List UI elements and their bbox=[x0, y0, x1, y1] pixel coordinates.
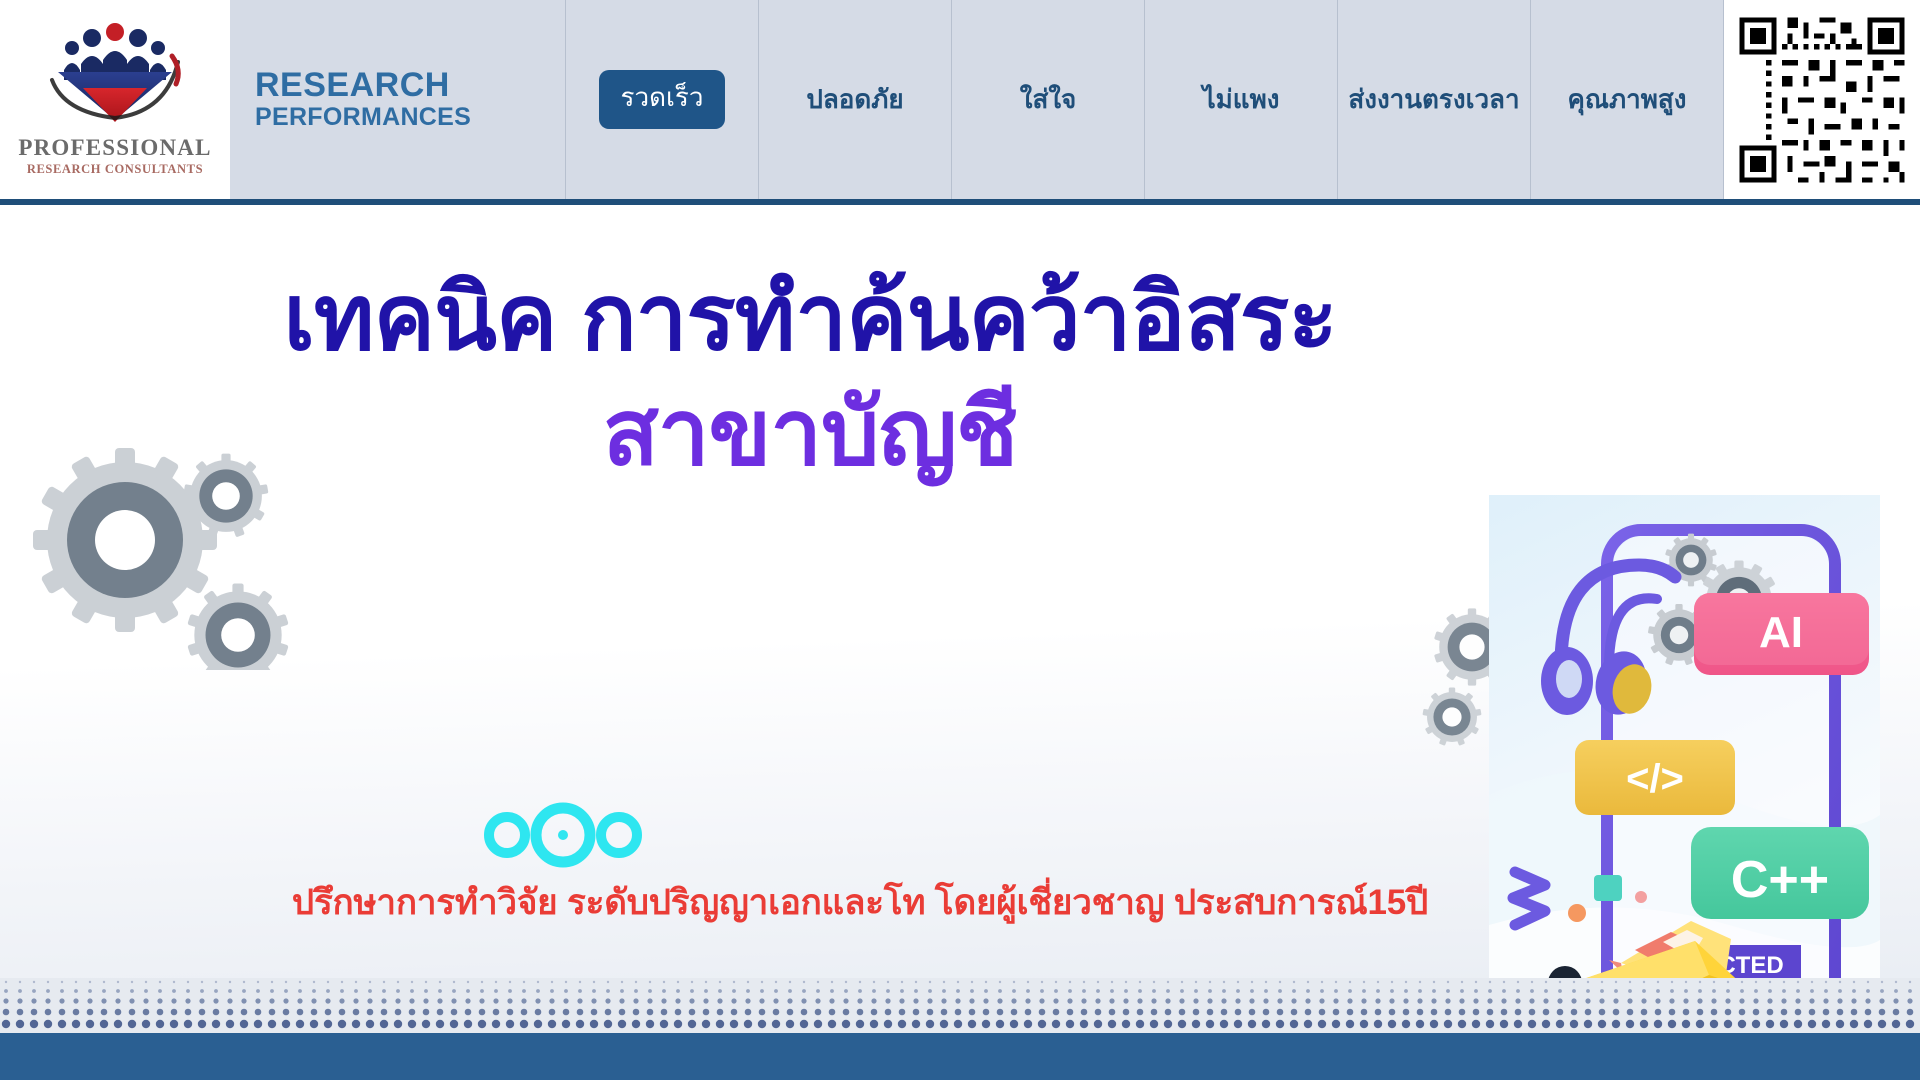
gears-decoration-icon bbox=[30, 430, 300, 670]
badge-cpp: C++ bbox=[1691, 827, 1869, 919]
badge-ai-label: AI bbox=[1759, 608, 1803, 657]
site-header: PROFESSIONAL RESEARCH CONSULTANTS RESEAR… bbox=[0, 0, 1920, 205]
illustration-svg: AI </> C++ CTED bbox=[1489, 495, 1880, 978]
nav-item-maipaeng[interactable]: ไม่แพง bbox=[1144, 0, 1337, 199]
confetti-dot bbox=[1568, 904, 1586, 922]
main-nav: รวดเร็ว ปลอดภัย ใส่ใจ ไม่แพง ส่งงานตรงเว… bbox=[565, 0, 1724, 199]
nav-label-4: ส่งงานตรงเวลา bbox=[1348, 82, 1519, 117]
brand-line-2: PERFORMANCES bbox=[255, 104, 565, 132]
prc-logo-icon bbox=[40, 22, 190, 134]
page-root: PROFESSIONAL RESEARCH CONSULTANTS RESEAR… bbox=[0, 0, 1920, 1080]
nav-label-1: ปลอดภัย bbox=[806, 82, 903, 117]
brand-title: RESEARCH PERFORMANCES bbox=[230, 0, 565, 199]
confetti-square bbox=[1594, 875, 1622, 901]
hero-section: เทคนิค การทำค้นคว้าอิสระ สาขาบัญชี ปรึกษ… bbox=[0, 205, 1920, 978]
hero-illustration: AI </> C++ CTED bbox=[1489, 495, 1880, 978]
footer-bar bbox=[0, 1033, 1920, 1080]
nav-label-3: ไม่แพง bbox=[1203, 82, 1280, 117]
badge-ai: AI bbox=[1694, 593, 1869, 675]
qr-code-block[interactable] bbox=[1724, 0, 1920, 199]
badge-code: </> bbox=[1575, 740, 1735, 815]
qr-code-icon bbox=[1734, 12, 1910, 188]
nav-item-ontime[interactable]: ส่งงานตรงเวลา bbox=[1337, 0, 1530, 199]
logo-block[interactable]: PROFESSIONAL RESEARCH CONSULTANTS bbox=[0, 0, 230, 199]
logo-wordmark: PROFESSIONAL bbox=[18, 136, 211, 159]
nav-label-2: ใส่ใจ bbox=[1020, 82, 1077, 117]
nav-item-plodpai[interactable]: ปลอดภัย bbox=[758, 0, 951, 199]
nav-label-5: คุณภาพสูง bbox=[1568, 82, 1687, 117]
cyan-nextcloud-style-icon bbox=[478, 800, 648, 870]
headline-line-1: เทคนิค การทำค้นคว้าอิสระ bbox=[0, 270, 1620, 367]
nav-label-0: รวดเร็ว bbox=[599, 70, 726, 129]
logo-subword: RESEARCH CONSULTANTS bbox=[27, 162, 203, 177]
nav-item-saijai[interactable]: ใส่ใจ bbox=[951, 0, 1144, 199]
nav-item-quality[interactable]: คุณภาพสูง bbox=[1530, 0, 1724, 199]
badge-cpp-label: C++ bbox=[1731, 851, 1829, 909]
halftone-dot-pattern bbox=[0, 978, 1920, 1033]
hero-subheadline: ปรึกษาการทำวิจัย ระดับปริญญาเอกและโท โดย… bbox=[0, 875, 1720, 930]
confetti-dot-2 bbox=[1635, 891, 1647, 903]
nav-item-ruadreo[interactable]: รวดเร็ว bbox=[565, 0, 758, 199]
badge-code-label: </> bbox=[1626, 757, 1684, 801]
brand-line-1: RESEARCH bbox=[255, 68, 565, 104]
